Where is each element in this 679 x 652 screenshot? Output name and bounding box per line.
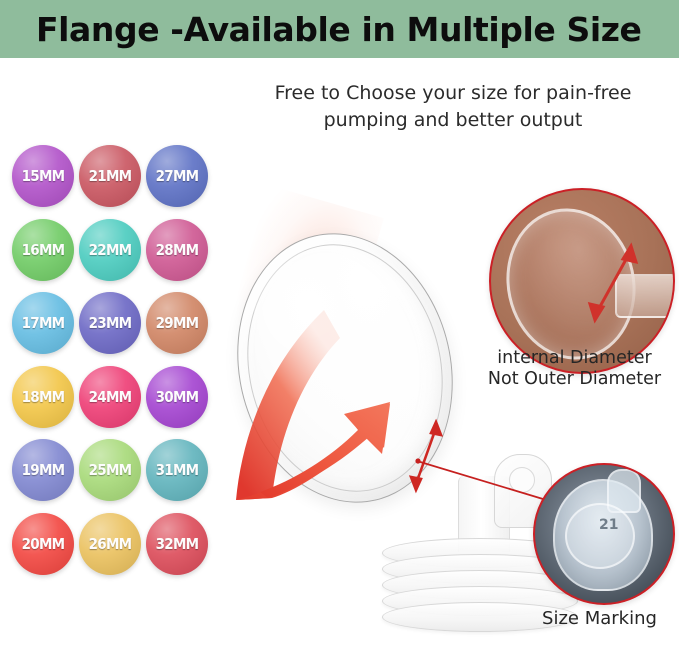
size-badge-32mm[interactable]: 32MM (146, 513, 208, 575)
size-badge-23mm[interactable]: 23MM (79, 292, 141, 354)
size-badge-label: 24MM (89, 388, 132, 406)
size-badge-label: 31MM (156, 461, 199, 479)
size-badge-24mm[interactable]: 24MM (79, 366, 141, 428)
size-badge-27mm[interactable]: 27MM (146, 145, 208, 207)
size-badge-grid: 15MM21MM27MM16MM22MM28MM17MM23MM29MM18MM… (12, 145, 222, 585)
size-badge-label: 21MM (89, 167, 132, 185)
size-badge-label: 29MM (156, 314, 199, 332)
size-badge-16mm[interactable]: 16MM (12, 219, 74, 281)
header-banner: Flange -Available in Multiple Size (0, 0, 679, 58)
size-badge-label: 26MM (89, 535, 132, 553)
size-badge-label: 20MM (22, 535, 65, 553)
size-badge-label: 19MM (22, 461, 65, 479)
size-badge-15mm[interactable]: 15MM (12, 145, 74, 207)
size-badge-20mm[interactable]: 20MM (12, 513, 74, 575)
subtitle-line-1: Free to Choose your size for pain-free (238, 80, 668, 107)
size-badge-label: 22MM (89, 241, 132, 259)
inset-flange-ring (565, 503, 635, 569)
size-badge-label: 32MM (156, 535, 199, 553)
size-badge-label: 25MM (89, 461, 132, 479)
size-badge-30mm[interactable]: 30MM (146, 366, 208, 428)
size-badge-29mm[interactable]: 29MM (146, 292, 208, 354)
inset-flange-body: 21 (553, 479, 653, 591)
size-badge-18mm[interactable]: 18MM (12, 366, 74, 428)
size-badge-label: 28MM (156, 241, 199, 259)
size-badge-21mm[interactable]: 21MM (79, 145, 141, 207)
size-badge-17mm[interactable]: 17MM (12, 292, 74, 354)
size-badge-label: 30MM (156, 388, 199, 406)
size-badge-19mm[interactable]: 19MM (12, 439, 74, 501)
callout-leader-line-icon (415, 455, 545, 505)
product-illustration (232, 190, 532, 635)
size-badge-label: 17MM (22, 314, 65, 332)
size-badge-22mm[interactable]: 22MM (79, 219, 141, 281)
size-badge-label: 23MM (89, 314, 132, 332)
internal-diameter-caption-line-1: internal Diameter (470, 348, 679, 369)
subtitle-line-2: pumping and better output (238, 107, 668, 134)
internal-diameter-caption-line-2: Not Outer Diameter (470, 369, 679, 390)
size-badge-25mm[interactable]: 25MM (79, 439, 141, 501)
double-headed-arrow-icon (587, 242, 641, 324)
size-badge-label: 15MM (22, 167, 65, 185)
page-title: Flange -Available in Multiple Size (0, 10, 642, 49)
size-badge-28mm[interactable]: 28MM (146, 219, 208, 281)
size-badge-31mm[interactable]: 31MM (146, 439, 208, 501)
size-badge-label: 18MM (22, 388, 65, 406)
internal-diameter-inset (489, 188, 675, 374)
size-marking-inset: 21 (533, 463, 675, 605)
size-marking-caption: Size Marking (520, 608, 679, 629)
size-badge-26mm[interactable]: 26MM (79, 513, 141, 575)
subtitle-text: Free to Choose your size for pain-free p… (238, 80, 668, 134)
size-marking-value: 21 (599, 517, 618, 533)
size-badge-label: 27MM (156, 167, 199, 185)
internal-diameter-caption: internal Diameter Not Outer Diameter (470, 348, 679, 390)
size-badge-label: 16MM (22, 241, 65, 259)
